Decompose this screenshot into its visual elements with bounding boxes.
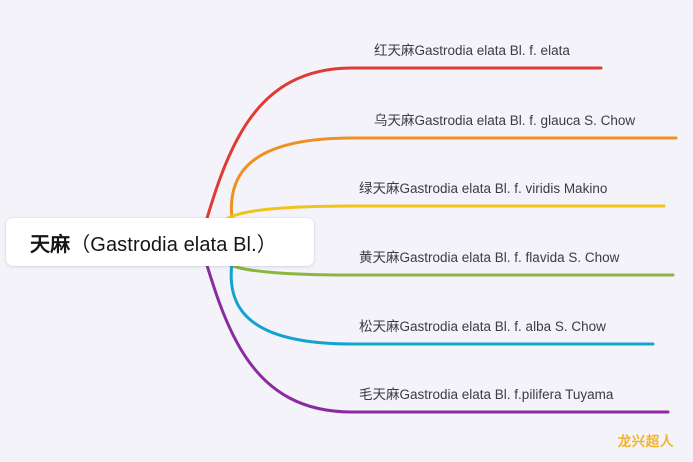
- branch-node-1[interactable]: 红天麻Gastrodia elata Bl. f. elata: [374, 44, 570, 58]
- branch-scientific-name-2: Gastrodia elata Bl. f. glauca S. Chow: [415, 113, 636, 128]
- branch-chinese-name-5: 松天麻: [359, 319, 400, 334]
- branch-scientific-name-3: Gastrodia elata Bl. f. viridis Makino: [400, 181, 608, 196]
- root-chinese-name: 天麻: [30, 234, 70, 256]
- root-node-label: 天麻（Gastrodia elata Bl.）: [6, 228, 277, 257]
- branch-scientific-name-5: Gastrodia elata Bl. f. alba S. Chow: [400, 319, 606, 334]
- branch-node-4[interactable]: 黄天麻Gastrodia elata Bl. f. flavida S. Cho…: [359, 251, 619, 265]
- branch-chinese-name-4: 黄天麻: [359, 250, 400, 265]
- branch-node-6[interactable]: 毛天麻Gastrodia elata Bl. f.pilifera Tuyama: [359, 388, 613, 402]
- root-scientific-name: （Gastrodia elata Bl.）: [70, 234, 277, 256]
- branch-node-5[interactable]: 松天麻Gastrodia elata Bl. f. alba S. Chow: [359, 320, 606, 334]
- branch-chinese-name-3: 绿天麻: [359, 181, 400, 196]
- mindmap-canvas: 天麻（Gastrodia elata Bl.） 红天麻Gastrodia ela…: [0, 0, 693, 462]
- branch-scientific-name-4: Gastrodia elata Bl. f. flavida S. Chow: [400, 250, 620, 265]
- branch-chinese-name-1: 红天麻: [374, 43, 415, 58]
- branch-node-2[interactable]: 乌天麻Gastrodia elata Bl. f. glauca S. Chow: [374, 114, 635, 128]
- branch-scientific-name-1: Gastrodia elata Bl. f. elata: [415, 43, 570, 58]
- branch-chinese-name-6: 毛天麻: [359, 387, 400, 402]
- watermark: 龙兴超人: [618, 430, 674, 450]
- branch-node-3[interactable]: 绿天麻Gastrodia elata Bl. f. viridis Makino: [359, 182, 607, 196]
- root-node[interactable]: 天麻（Gastrodia elata Bl.）: [6, 218, 314, 266]
- branch-chinese-name-2: 乌天麻: [374, 113, 415, 128]
- branch-scientific-name-6: Gastrodia elata Bl. f.pilifera Tuyama: [400, 387, 614, 402]
